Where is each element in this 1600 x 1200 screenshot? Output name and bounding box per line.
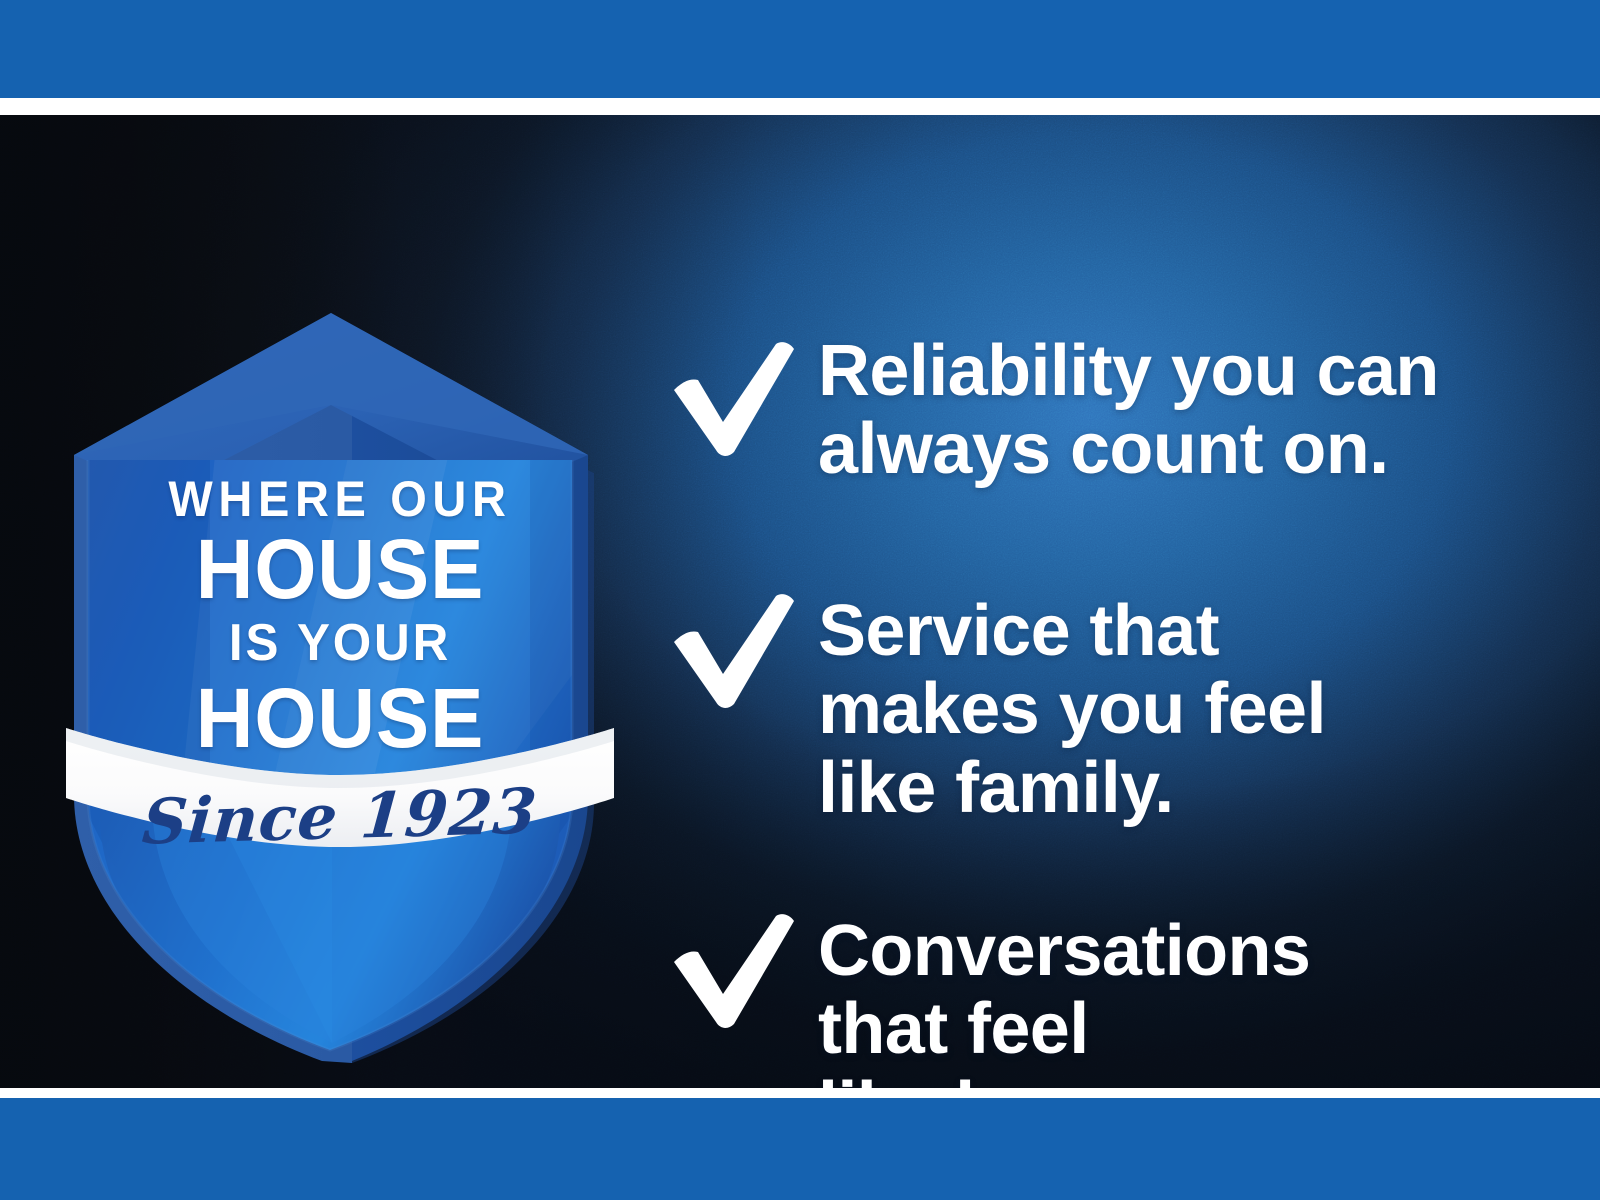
check-icon (668, 902, 818, 1028)
bottom-white-rule (0, 1088, 1600, 1098)
top-white-rule (0, 98, 1600, 115)
benefit-text-1: Reliability you can always count on. (818, 330, 1439, 489)
benefit-text-2: Service that makes you feel like family. (818, 582, 1326, 827)
benefit-1-line-1: Reliability you can (818, 332, 1439, 410)
benefit-2-line-3: like family. (818, 749, 1326, 827)
benefit-1-line-2: always count on. (818, 410, 1439, 488)
benefit-3-line-3: like home. (818, 1069, 1310, 1088)
check-icon (668, 582, 818, 708)
check-icon (668, 330, 818, 456)
benefit-3-line-2: that feel (818, 990, 1310, 1068)
bottom-brand-bar (0, 1098, 1600, 1200)
benefit-text-3: Conversations that feel like home. (818, 902, 1310, 1088)
benefit-2-line-2: makes you feel (818, 670, 1326, 748)
benefit-3-line-1: Conversations (818, 912, 1310, 990)
benefit-item-2: Service that makes you feel like family. (668, 582, 1498, 827)
benefit-2-line-1: Service that (818, 592, 1326, 670)
top-brand-bar (0, 0, 1600, 98)
benefit-item-3: Conversations that feel like home. (668, 902, 1498, 1088)
benefits-list: Reliability you can always count on. Ser… (668, 230, 1498, 1088)
main-canvas: WHERE OUR HOUSE IS YOUR HOUSE Since 1923… (0, 115, 1600, 1088)
shield-emblem: WHERE OUR HOUSE IS YOUR HOUSE Since 1923 (60, 255, 620, 1075)
promo-poster: WHERE OUR HOUSE IS YOUR HOUSE Since 1923… (0, 0, 1600, 1200)
benefit-item-1: Reliability you can always count on. (668, 330, 1498, 489)
